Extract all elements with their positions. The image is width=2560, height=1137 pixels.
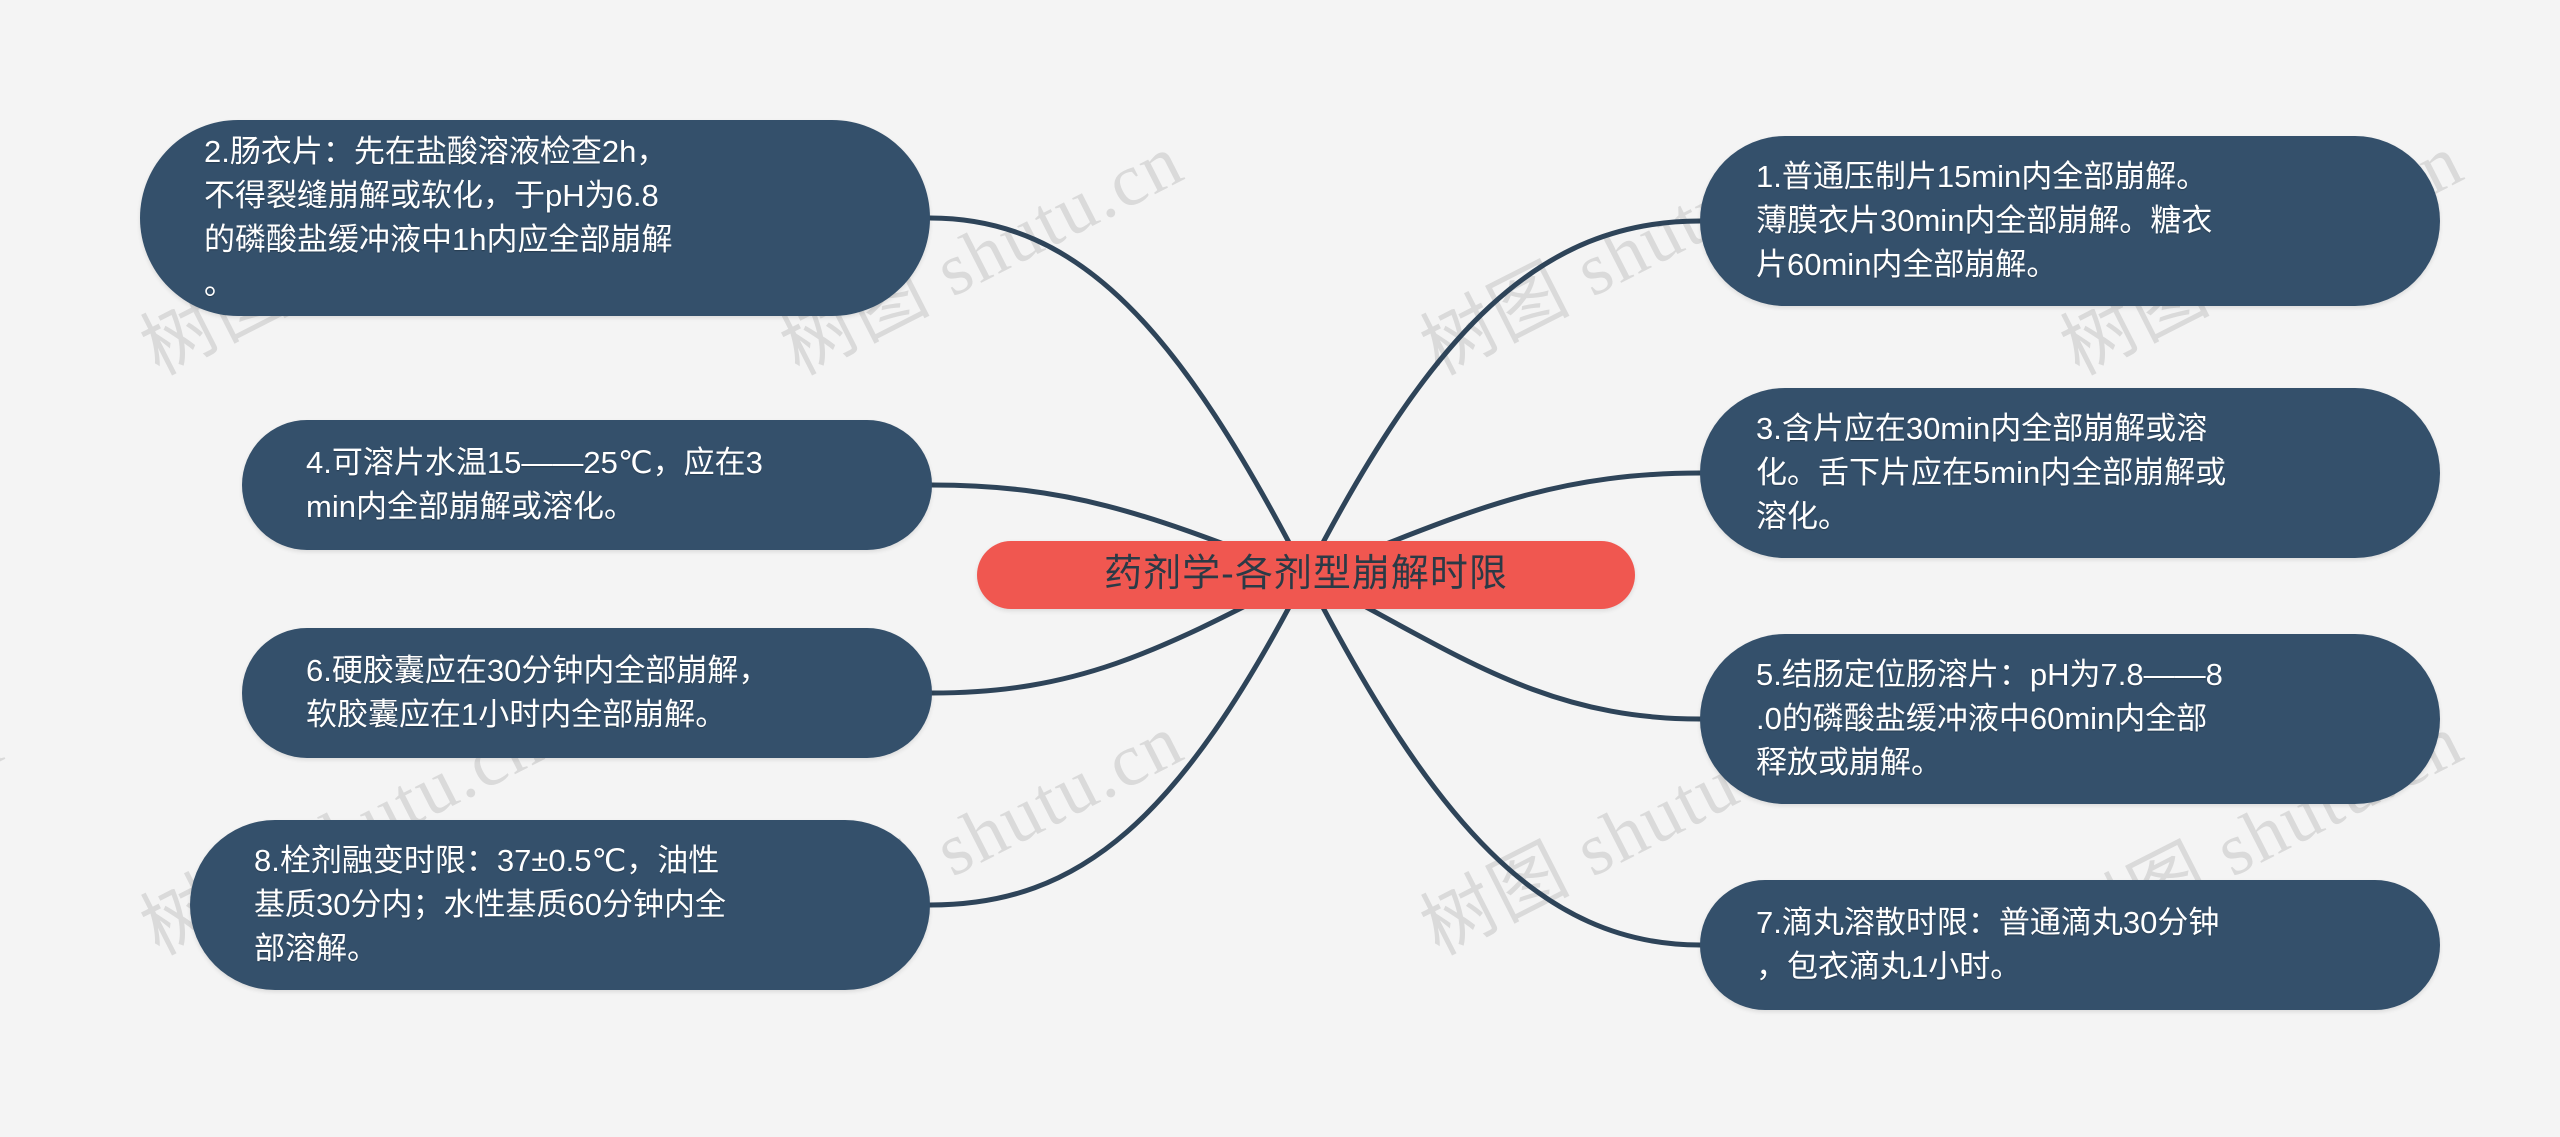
- link-root-node-1: [1306, 221, 1700, 575]
- mindmap-canvas: 树图 shutu.cn树图 shutu.cn树图 shutu.cn树图 shut…: [0, 0, 2560, 1137]
- branch-node-8-label: 8.栓剂融变时限：37±0.5℃，油性 基质30分内；水性基质60分钟内全 部溶…: [254, 839, 886, 971]
- branch-node-6[interactable]: 6.硬胶囊应在30分钟内全部崩解， 软胶囊应在1小时内全部崩解。: [242, 628, 932, 758]
- branch-node-1-label: 1.普通压制片15min内全部崩解。 薄膜衣片30min内全部崩解。糖衣 片60…: [1756, 155, 2382, 287]
- link-root-node-7: [1306, 575, 1700, 945]
- branch-node-1[interactable]: 1.普通压制片15min内全部崩解。 薄膜衣片30min内全部崩解。糖衣 片60…: [1700, 136, 2440, 306]
- branch-node-7[interactable]: 7.滴丸溶散时限：普通滴丸30分钟 ，包衣滴丸1小时。: [1700, 880, 2440, 1010]
- link-root-node-2: [930, 218, 1306, 575]
- branch-node-8[interactable]: 8.栓剂融变时限：37±0.5℃，油性 基质30分内；水性基质60分钟内全 部溶…: [190, 820, 930, 990]
- branch-node-5[interactable]: 5.结肠定位肠溶片：pH为7.8——8 .0的磷酸盐缓冲液中60min内全部 释…: [1700, 634, 2440, 804]
- branch-node-4-label: 4.可溶片水温15——25℃，应在3 min内全部崩解或溶化。: [306, 441, 888, 529]
- root-node-label: 药剂学-各剂型崩解时限: [1104, 552, 1508, 598]
- branch-node-3[interactable]: 3.含片应在30min内全部崩解或溶 化。舌下片应在5min内全部崩解或 溶化。: [1700, 388, 2440, 558]
- watermark-text: 树图 shutu.cn: [0, 682, 18, 976]
- branch-node-3-label: 3.含片应在30min内全部崩解或溶 化。舌下片应在5min内全部崩解或 溶化。: [1756, 407, 2382, 539]
- branch-node-7-label: 7.滴丸溶散时限：普通滴丸30分钟 ，包衣滴丸1小时。: [1756, 901, 2382, 989]
- branch-node-2[interactable]: 2.肠衣片：先在盐酸溶液检查2h， 不得裂缝崩解或软化，于pH为6.8 的磷酸盐…: [140, 120, 930, 316]
- branch-node-4[interactable]: 4.可溶片水温15——25℃，应在3 min内全部崩解或溶化。: [242, 420, 932, 550]
- branch-node-5-label: 5.结肠定位肠溶片：pH为7.8——8 .0的磷酸盐缓冲液中60min内全部 释…: [1756, 653, 2382, 785]
- branch-node-2-label: 2.肠衣片：先在盐酸溶液检查2h， 不得裂缝崩解或软化，于pH为6.8 的磷酸盐…: [204, 130, 886, 306]
- root-node[interactable]: 药剂学-各剂型崩解时限: [977, 541, 1635, 609]
- branch-node-6-label: 6.硬胶囊应在30分钟内全部崩解， 软胶囊应在1小时内全部崩解。: [306, 649, 888, 737]
- link-root-node-8: [930, 575, 1306, 905]
